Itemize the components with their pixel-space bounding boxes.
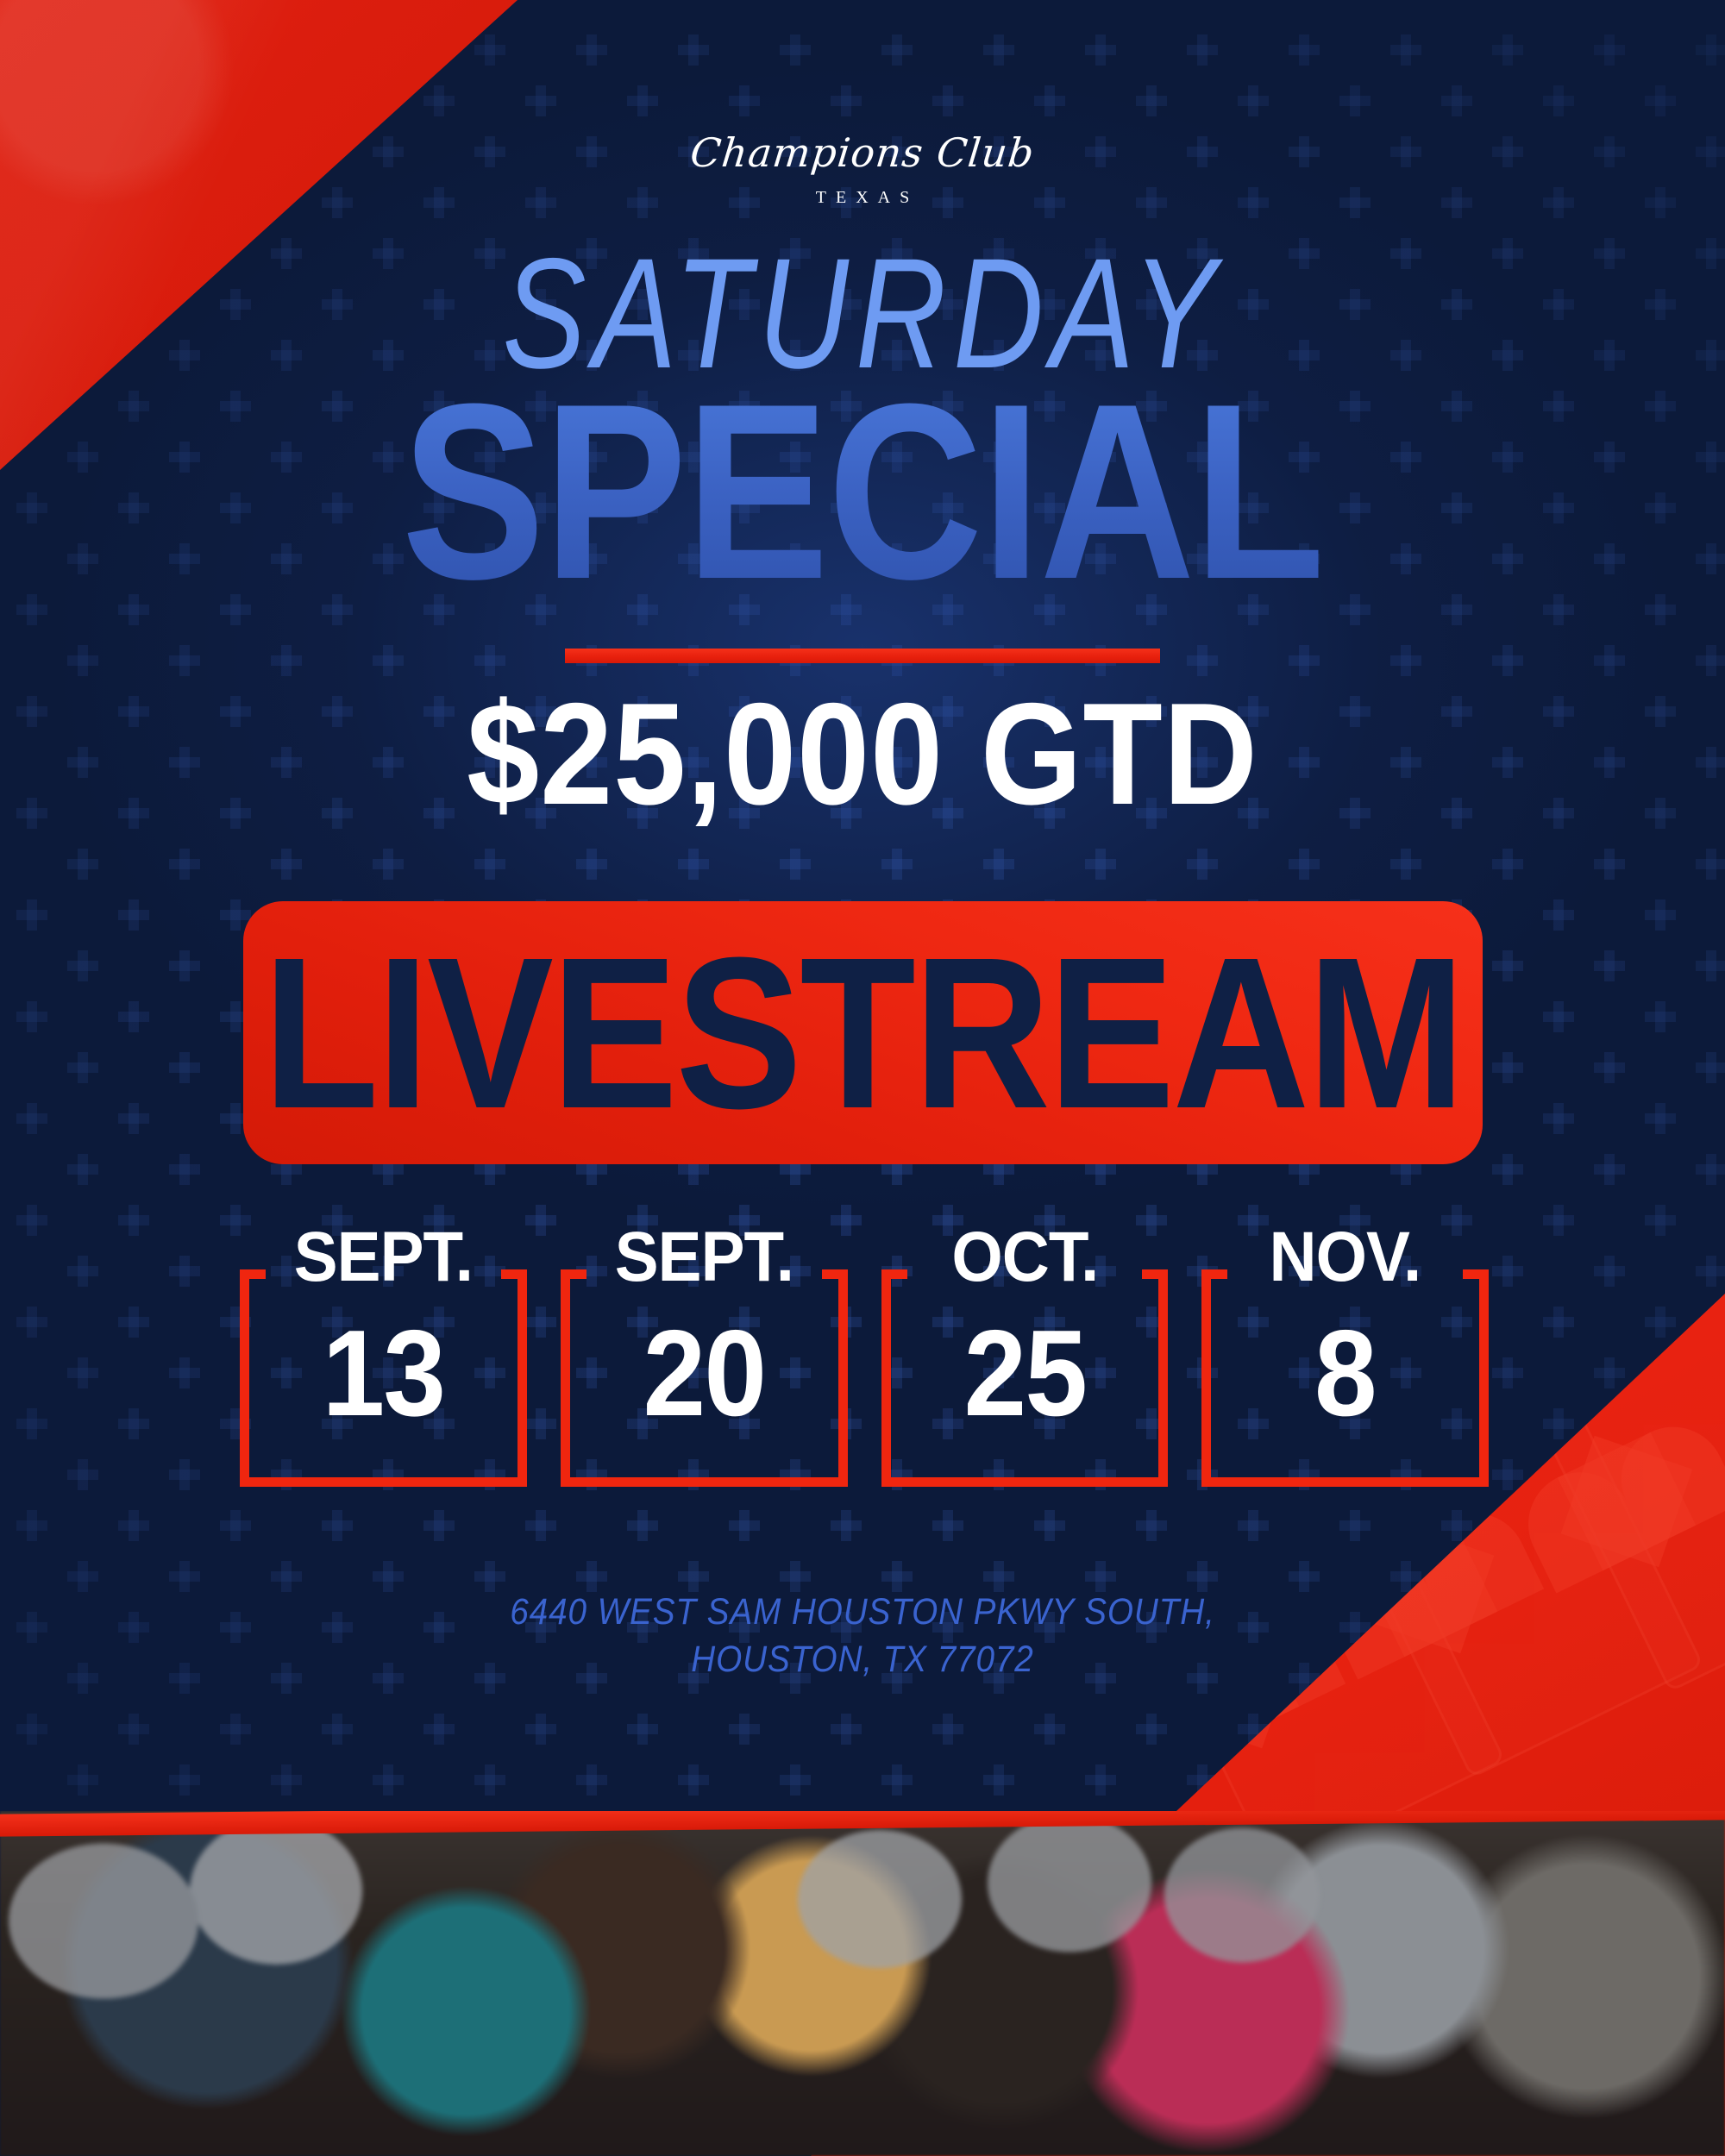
plus-glyph	[780, 1561, 811, 1592]
plus-glyph	[1543, 1001, 1574, 1032]
plus-glyph	[1390, 849, 1421, 880]
plus-glyph	[169, 1764, 200, 1796]
plus-glyph	[474, 1764, 505, 1796]
plus-glyph	[1645, 1205, 1676, 1236]
plus-glyph	[1696, 442, 1725, 473]
plus-glyph	[1187, 1561, 1218, 1592]
plus-glyph	[1696, 849, 1725, 880]
plus-glyph	[1696, 950, 1725, 981]
plus-glyph	[1645, 492, 1676, 523]
plus-glyph	[1645, 1307, 1676, 1338]
plus-glyph	[525, 85, 556, 116]
plus-glyph	[678, 849, 709, 880]
plus-glyph	[1594, 1357, 1625, 1388]
date-month: SEPT.	[250, 1222, 517, 1293]
plus-glyph	[932, 85, 963, 116]
plus-glyph	[16, 1205, 47, 1236]
plus-glyph	[525, 1510, 556, 1541]
plus-glyph	[932, 1714, 963, 1745]
plus-glyph	[1238, 1510, 1269, 1541]
plus-glyph	[576, 1561, 607, 1592]
date-box[interactable]: NOV. 8	[1201, 1228, 1489, 1487]
plus-glyph	[627, 85, 658, 116]
plus-glyph	[1492, 1459, 1523, 1490]
plus-glyph	[1492, 950, 1523, 981]
plus-glyph	[881, 34, 913, 66]
plus-glyph	[831, 1714, 862, 1745]
plus-glyph	[169, 1357, 200, 1388]
plus-glyph	[678, 1561, 709, 1592]
plus-glyph	[16, 899, 47, 931]
plus-glyph	[322, 1714, 353, 1745]
plus-glyph	[16, 1001, 47, 1032]
plus-glyph	[576, 34, 607, 66]
plus-glyph	[1085, 1561, 1116, 1592]
plus-glyph	[780, 1764, 811, 1796]
plus-glyph	[271, 1561, 302, 1592]
plus-glyph	[1645, 696, 1676, 727]
plus-glyph	[729, 1510, 760, 1541]
plus-glyph	[1543, 899, 1574, 931]
plus-glyph	[118, 1510, 149, 1541]
plus-glyph	[1289, 34, 1320, 66]
plus-glyph	[627, 1714, 658, 1745]
plus-glyph	[1187, 34, 1218, 66]
plus-glyph	[474, 34, 505, 66]
plus-glyph	[1390, 645, 1421, 676]
plus-glyph	[169, 849, 200, 880]
plus-glyph	[678, 34, 709, 66]
plus-glyph	[1492, 1256, 1523, 1287]
plus-glyph	[1696, 34, 1725, 66]
plus-glyph	[881, 849, 913, 880]
poker-room-photo	[0, 1811, 1725, 2156]
plus-glyph	[1492, 1154, 1523, 1185]
plus-glyph	[983, 1561, 1014, 1592]
plus-glyph	[16, 1612, 47, 1643]
plus-glyph	[373, 1764, 404, 1796]
plus-glyph	[373, 645, 404, 676]
plus-glyph	[474, 645, 505, 676]
plus-glyph	[1594, 238, 1625, 269]
plus-glyph	[1136, 1714, 1167, 1745]
address-line-1: 6440 WEST SAM HOUSTON PKWY SOUTH,	[86, 1589, 1639, 1636]
plus-glyph	[16, 798, 47, 829]
plus-glyph	[831, 1510, 862, 1541]
plus-glyph	[1136, 1510, 1167, 1541]
plus-glyph	[983, 1764, 1014, 1796]
plus-glyph	[271, 849, 302, 880]
plus-glyph	[118, 899, 149, 931]
plus-glyph	[373, 849, 404, 880]
plus-glyph	[322, 1510, 353, 1541]
plus-glyph	[1187, 849, 1218, 880]
plus-glyph	[118, 1001, 149, 1032]
plus-glyph	[1645, 1103, 1676, 1134]
plus-glyph	[1034, 85, 1065, 116]
plus-glyph	[1543, 1408, 1574, 1439]
plus-glyph	[67, 1764, 98, 1796]
plus-glyph	[67, 1256, 98, 1287]
plus-glyph	[169, 1459, 200, 1490]
plus-glyph	[1085, 849, 1116, 880]
plus-glyph	[1696, 340, 1725, 371]
plus-glyph	[1645, 391, 1676, 422]
plus-glyph	[983, 849, 1014, 880]
plus-glyph	[118, 1205, 149, 1236]
plus-glyph	[1594, 950, 1625, 981]
plus-glyph	[220, 1510, 251, 1541]
plus-glyph	[1085, 34, 1116, 66]
plus-glyph	[16, 1307, 47, 1338]
plus-glyph	[678, 1764, 709, 1796]
plus-glyph	[423, 1510, 455, 1541]
livestream-badge: LIVESTREAM	[243, 901, 1483, 1164]
plus-glyph	[1543, 1205, 1574, 1236]
plus-glyph	[1696, 238, 1725, 269]
date-month: OCT.	[891, 1222, 1157, 1293]
plus-glyph	[1339, 1510, 1371, 1541]
plus-glyph	[1543, 1103, 1574, 1134]
plus-glyph	[932, 1510, 963, 1541]
plus-glyph	[525, 1714, 556, 1745]
plus-glyph	[423, 1714, 455, 1745]
plus-glyph	[576, 1764, 607, 1796]
plus-glyph	[1390, 34, 1421, 66]
plus-glyph	[729, 85, 760, 116]
plus-glyph	[67, 1357, 98, 1388]
plus-glyph	[118, 1307, 149, 1338]
plus-glyph	[576, 849, 607, 880]
plus-glyph	[16, 1510, 47, 1541]
plus-glyph	[16, 594, 47, 625]
plus-glyph	[67, 1052, 98, 1083]
plus-glyph	[271, 645, 302, 676]
plus-glyph	[1543, 85, 1574, 116]
plus-glyph	[1085, 1764, 1116, 1796]
plus-glyph	[881, 1764, 913, 1796]
plus-glyph	[1645, 289, 1676, 320]
plus-glyph	[474, 1561, 505, 1592]
plus-glyph	[627, 1510, 658, 1541]
plus-glyph	[1034, 1510, 1065, 1541]
plus-glyph	[1441, 85, 1472, 116]
date-day: 13	[251, 1313, 515, 1435]
plus-glyph	[1289, 849, 1320, 880]
plus-glyph	[16, 696, 47, 727]
plus-glyph	[1187, 645, 1218, 676]
date-list: SEPT. 13 SEPT. 20 OCT. 25 NOV. 8	[240, 1228, 1489, 1487]
plus-glyph	[1594, 1052, 1625, 1083]
plus-glyph	[1645, 594, 1676, 625]
plus-glyph	[1034, 1714, 1065, 1745]
plus-glyph	[16, 1103, 47, 1134]
plus-glyph	[780, 34, 811, 66]
plus-glyph	[67, 442, 98, 473]
plus-glyph	[1696, 543, 1725, 574]
plus-glyph	[1594, 1154, 1625, 1185]
date-month: SEPT.	[570, 1222, 837, 1293]
plus-glyph	[1136, 85, 1167, 116]
plus-glyph	[16, 492, 47, 523]
plus-glyph	[1492, 34, 1523, 66]
plus-glyph	[67, 543, 98, 574]
plus-glyph	[118, 1714, 149, 1745]
plus-glyph	[1492, 1052, 1523, 1083]
plus-glyph	[118, 1103, 149, 1134]
plus-glyph	[67, 1561, 98, 1592]
plus-glyph	[1594, 645, 1625, 676]
plus-glyph	[1594, 1256, 1625, 1287]
promo-poster: Champions Club TEXAS SATURDAY SPECIAL $2…	[0, 0, 1725, 2156]
plus-glyph	[831, 85, 862, 116]
plus-glyph	[169, 1154, 200, 1185]
plus-glyph	[1289, 1561, 1320, 1592]
venue-address: 6440 WEST SAM HOUSTON PKWY SOUTH, HOUSTO…	[86, 1589, 1639, 1683]
plus-glyph	[1492, 1357, 1523, 1388]
guarantee-amount: $25,000 GTD	[86, 681, 1639, 826]
plus-glyph	[983, 34, 1014, 66]
plus-glyph	[16, 1408, 47, 1439]
plus-glyph	[1543, 1307, 1574, 1338]
date-box[interactable]: SEPT. 20	[561, 1228, 848, 1487]
plus-glyph	[1696, 1154, 1725, 1185]
plus-glyph	[474, 849, 505, 880]
plus-glyph	[67, 645, 98, 676]
plus-glyph	[67, 1154, 98, 1185]
plus-glyph	[881, 1561, 913, 1592]
plus-glyph	[67, 1459, 98, 1490]
plus-glyph	[1696, 645, 1725, 676]
photo-chairs-layer	[0, 1811, 1725, 2011]
plus-glyph	[1594, 849, 1625, 880]
plus-glyph	[220, 1714, 251, 1745]
plus-glyph	[169, 645, 200, 676]
plus-glyph	[118, 1408, 149, 1439]
address-line-2: HOUSTON, TX 77072	[86, 1636, 1639, 1683]
plus-glyph	[1289, 645, 1320, 676]
plus-glyph	[67, 950, 98, 981]
plus-glyph	[1492, 849, 1523, 880]
plus-glyph	[1238, 85, 1269, 116]
logo-subtitle-text: TEXAS	[0, 188, 1725, 208]
plus-glyph	[1492, 645, 1523, 676]
date-month: NOV.	[1212, 1222, 1478, 1293]
plus-glyph	[169, 950, 200, 981]
date-day: 25	[893, 1313, 1157, 1435]
plus-glyph	[1594, 34, 1625, 66]
plus-glyph	[373, 1561, 404, 1592]
plus-glyph	[169, 1256, 200, 1287]
plus-glyph	[169, 1561, 200, 1592]
plus-glyph	[1645, 1001, 1676, 1032]
brand-logo: Champions Club TEXAS	[0, 129, 1725, 208]
plus-glyph	[1696, 1052, 1725, 1083]
date-day: 20	[572, 1313, 836, 1435]
date-day: 8	[1214, 1313, 1477, 1435]
plus-glyph	[423, 85, 455, 116]
plus-glyph	[1339, 85, 1371, 116]
plus-glyph	[1696, 1256, 1725, 1287]
plus-glyph	[780, 849, 811, 880]
red-divider-rule	[565, 649, 1160, 663]
plus-glyph	[1645, 798, 1676, 829]
date-box[interactable]: SEPT. 13	[240, 1228, 527, 1487]
logo-script-text: Champions Club	[0, 129, 1725, 176]
plus-glyph	[16, 1714, 47, 1745]
plus-glyph	[1645, 85, 1676, 116]
plus-glyph	[169, 1052, 200, 1083]
plus-glyph	[271, 1764, 302, 1796]
livestream-label: LIVESTREAM	[263, 925, 1463, 1141]
plus-glyph	[67, 849, 98, 880]
plus-glyph	[1696, 747, 1725, 778]
plus-glyph	[729, 1714, 760, 1745]
date-box[interactable]: OCT. 25	[881, 1228, 1169, 1487]
headline-special: SPECIAL	[121, 367, 1604, 617]
plus-glyph	[1645, 899, 1676, 931]
